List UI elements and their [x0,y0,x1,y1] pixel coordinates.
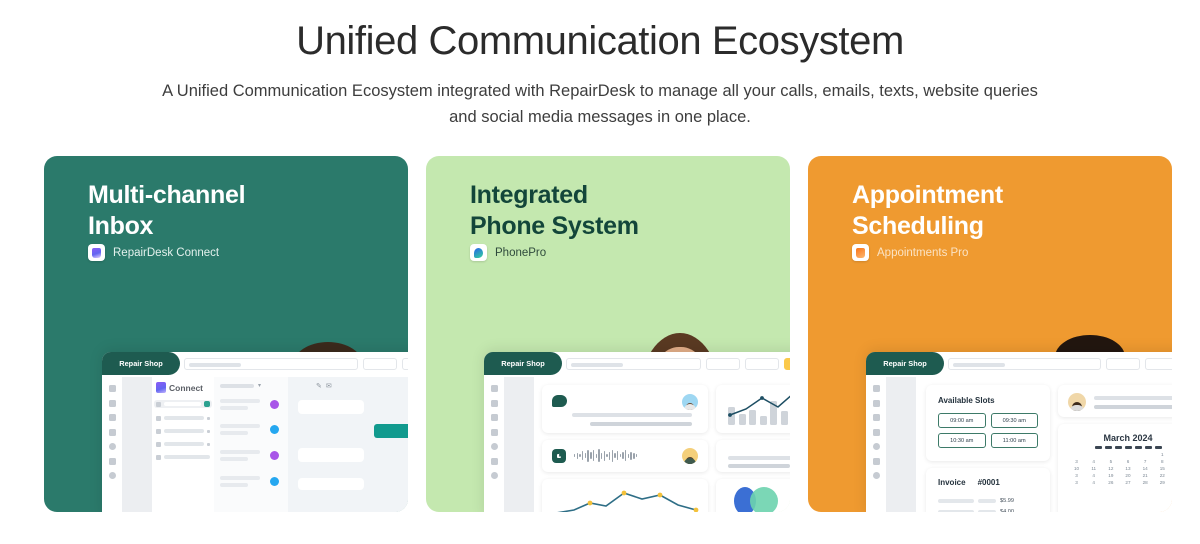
mock-toolbar-button[interactable] [706,358,740,370]
app-mockup: Repair Shop Connect [102,352,408,512]
calendar-day[interactable]: 12 [1102,466,1119,472]
reports-icon[interactable] [491,458,498,465]
repairdesk-connect-icon [88,244,105,261]
invoice-line-item: $5.99 [938,498,1014,504]
calendar-day[interactable]: 28 [1137,480,1154,486]
calendar-day[interactable]: 29 [1154,480,1171,486]
venn-card[interactable] [716,479,790,512]
calendar-day [1137,452,1154,458]
invoice-label: Invoice [938,478,966,487]
app-mockup: Repair Shop Available Slots 09: [866,352,1172,512]
available-slots-title: Available Slots [938,396,1050,405]
mock-toolbar [566,355,790,373]
feature-card-multi-channel-inbox[interactable]: Multi-channel Inbox RepairDesk Connect R… [44,156,408,512]
calendar-day [1102,452,1119,458]
calendar-day[interactable]: 10 [1068,466,1085,472]
calendar-day[interactable]: 14 [1137,466,1154,472]
dashboard-icon[interactable] [109,385,116,392]
page-subtitle: A Unified Communication Ecosystem integr… [160,79,1040,130]
calendar-day [1068,452,1085,458]
avatar [682,394,698,410]
calendar-day[interactable]: 8 [1154,459,1171,465]
calendar-month-label: March 2024 [1068,433,1172,443]
status-card[interactable] [716,440,790,472]
calendar-day[interactable]: 4 [1085,459,1102,465]
message-bubble [298,478,364,490]
calendar-day[interactable]: 26 [1102,480,1119,486]
customers-icon[interactable] [109,429,116,436]
calendar-day[interactable]: 13 [1119,466,1136,472]
calendar-weekday-row [1068,446,1172,449]
invoice-line-item: $4.00 [938,509,1014,512]
connect-logo-label: Connect [169,383,203,393]
calendar-day[interactable]: 27 [1119,480,1136,486]
channel-row[interactable] [154,400,212,408]
calendar-day[interactable]: 22 [1154,473,1171,479]
calendar-day[interactable]: 30 [1171,480,1172,486]
reports-icon[interactable] [873,458,880,465]
customers-icon[interactable] [491,429,498,436]
time-slot[interactable]: 09:30 am [991,413,1039,428]
page-header: Unified Communication Ecosystem A Unifie… [0,0,1200,130]
avatar [1068,393,1086,411]
phone-icon [552,449,566,463]
mock-secondary-rail [504,377,534,512]
channel-row[interactable] [156,453,210,461]
calendar-day[interactable]: 1 [1154,452,1171,458]
mock-toolbar-button[interactable] [1145,358,1172,370]
channel-row[interactable] [156,440,210,448]
mock-icon-rail [102,377,122,512]
chat-card[interactable] [542,385,708,433]
mock-toolbar-button[interactable] [402,358,408,370]
list-icon[interactable] [873,414,880,421]
channel-row[interactable] [156,414,210,422]
help-icon[interactable] [873,472,880,479]
mock-secondary-rail [122,377,152,512]
mock-search-input[interactable] [566,358,701,370]
calendar-grid: 1234567891011121314151634192021222334262… [1068,452,1172,486]
card-badge: RepairDesk Connect [88,244,219,261]
mock-toolbar [184,355,408,373]
phonepro-icon [470,244,487,261]
calendar-day [1119,452,1136,458]
calendar-day[interactable]: 19 [1102,473,1119,479]
feature-card-appointment-scheduling[interactable]: Appointment Scheduling Appointments Pro … [808,156,1172,512]
mock-toolbar-button[interactable] [745,358,779,370]
calendar-day[interactable]: 20 [1119,473,1136,479]
customers-icon[interactable] [873,429,880,436]
calendar-card[interactable]: March 2024 12345678910111213141516341920… [1058,424,1172,512]
calendar-day[interactable]: 3 [1068,459,1085,465]
settings-icon[interactable] [491,443,498,450]
chat-bubble-icon [552,395,567,407]
overlay-line-chart [716,385,790,433]
message-bubble [298,400,364,414]
mock-primary-button[interactable] [784,358,790,370]
customer-card[interactable] [1058,385,1172,417]
invoice-number: #0001 [978,478,1000,487]
calendar-day[interactable]: 7 [1137,459,1154,465]
mock-search-input[interactable] [184,358,358,370]
list-icon[interactable] [109,414,116,421]
dashboard-icon[interactable] [873,385,880,392]
calendar-day [1085,452,1102,458]
line-chart [542,479,708,512]
calendar-day[interactable]: 11 [1085,466,1102,472]
mock-message-thread [288,377,408,512]
venn-blob-green [750,487,778,512]
calendar-day[interactable]: 4 [1085,480,1102,486]
settings-icon[interactable] [109,443,116,450]
outgoing-message [374,424,408,438]
audio-waveform [574,449,637,462]
calendar-day[interactable]: 9 [1171,459,1172,465]
card-badge: Appointments Pro [852,244,968,261]
calendar-day[interactable]: 6 [1119,459,1136,465]
connect-logo-icon [156,382,166,393]
analytics-card[interactable] [716,385,790,433]
calendar-day[interactable]: 5 [1102,459,1119,465]
reports-icon[interactable] [109,458,116,465]
card-title: Appointment Scheduling [852,180,1003,241]
card-title: Multi-channel Inbox [88,180,245,241]
connect-logo: Connect [156,382,203,393]
dashboard-icon[interactable] [491,385,498,392]
mock-tab-label: Repair Shop [102,352,180,375]
calendar-day[interactable]: 21 [1137,473,1154,479]
mock-toolbar [948,355,1172,373]
help-icon[interactable] [109,472,116,479]
mock-icon-rail [484,377,504,512]
mock-toolbar-button[interactable] [1106,358,1140,370]
calendar-day[interactable]: 3 [1068,480,1085,486]
page-title: Unified Communication Ecosystem [0,18,1200,65]
calendar-day[interactable]: 2 [1171,452,1172,458]
feature-card-integrated-phone-system[interactable]: Integrated Phone System PhonePro Repair … [426,156,790,512]
calendar-day[interactable]: 23 [1171,473,1172,479]
calendar-day[interactable]: 15 [1154,466,1171,472]
card-badge-label: PhonePro [495,247,546,259]
card-badge-label: RepairDesk Connect [113,247,219,259]
time-slot[interactable]: 09:00 am [938,413,986,428]
trend-chart-card[interactable] [542,479,708,512]
inbox-icon[interactable] [873,400,880,407]
channel-row[interactable] [156,427,210,435]
calendar-day[interactable]: 4 [1085,473,1102,479]
invoice-card: Invoice #0001 $5.99 $4.00 [926,468,1050,512]
help-icon[interactable] [491,472,498,479]
calendar-day[interactable]: 16 [1171,466,1172,472]
mock-thread-actions: ✎ ✉ [316,382,332,390]
card-title: Integrated Phone System [470,180,639,241]
invoice-amount: $5.99 [1000,498,1014,504]
inbox-icon[interactable] [109,400,116,407]
inbox-icon[interactable] [491,400,498,407]
available-slots-card: Available Slots 09:00 am 09:30 am 10:30 … [926,385,1050,461]
list-icon[interactable] [491,414,498,421]
invoice-amount: $4.00 [1000,509,1014,512]
card-badge: PhonePro [470,244,546,261]
message-bubble [298,448,364,462]
mock-conversation-list [214,377,288,512]
mock-toolbar-button[interactable] [363,358,397,370]
time-slot[interactable]: 10:30 am [938,433,986,448]
mock-search-input[interactable] [948,358,1101,370]
mock-filter-bar: ▾ [220,382,261,389]
mock-secondary-rail [886,377,916,512]
settings-icon[interactable] [873,443,880,450]
mock-icon-rail [866,377,886,512]
time-slot[interactable]: 11:00 am [991,433,1039,448]
avatar [682,448,698,464]
mock-tab-label: Repair Shop [484,352,562,375]
calendar-day[interactable]: 3 [1068,473,1085,479]
call-recording-card[interactable] [542,440,708,472]
card-badge-label: Appointments Pro [877,247,968,259]
mock-tab-label: Repair Shop [866,352,944,375]
app-mockup: Repair Shop [484,352,790,512]
appointments-pro-icon [852,244,869,261]
feature-card-list: Multi-channel Inbox RepairDesk Connect R… [0,156,1200,512]
